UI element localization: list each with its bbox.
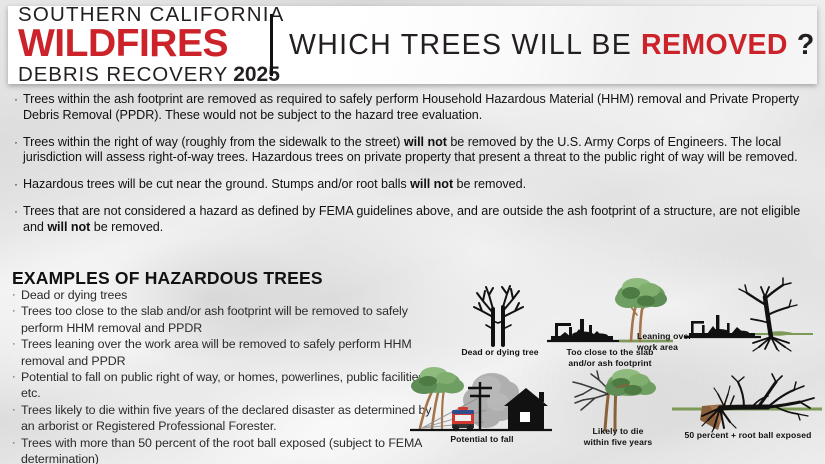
list-item: · Hazardous trees will be cut near the g… [14,177,810,193]
caption-root-ball-exposed: 50 percent + root ball exposed [670,430,825,441]
list-item: · Trees leaning over the work area will … [12,336,432,369]
infographic-poster: SOUTHERN CALIFORNIA WILDFIRES DEBRIS REC… [0,0,825,464]
list-item: · Trees too close to the slab and/or ash… [12,303,432,336]
caption-line-2: and/or ash footprint [543,358,677,369]
caption-likely-to-die: Likely to die within five years [556,426,680,447]
bullet-dot-icon: · [12,402,21,435]
caption-potential-to-fall: Potential to fall [418,434,546,445]
logo-line-debris-recovery: DEBRIS RECOVERY 2025 [18,64,266,86]
page-title-question-mark: ? [797,29,816,62]
example-text: Potential to fall on public right of way… [21,369,432,402]
example-text: Trees with more than 50 percent of the r… [21,435,432,464]
dead-branches [573,371,609,410]
caption-line-1: Leaning over [637,331,747,342]
caption-line-1: Potential to fall [418,434,546,445]
list-item: · Trees likely to die within five years … [12,402,432,435]
bullet-text: Trees within the ash footprint are remov… [23,92,810,124]
illustration-leaning-over-work-area: Leaning over work area [685,281,815,351]
potential-to-fall-icon [408,366,554,438]
bullet-dot-icon: · [14,135,23,167]
header-banner: SOUTHERN CALIFORNIA WILDFIRES DEBRIS REC… [8,6,817,84]
bullet-text: Trees that are not considered a hazard a… [23,204,810,236]
illustration-likely-to-die: Likely to die within five years [563,368,673,430]
page-title-prefix: WHICH TREES WILL BE [289,29,632,62]
bullet-text-post: be removed. [453,177,526,191]
wildfire-logo: SOUTHERN CALIFORNIA WILDFIRES DEBRIS REC… [8,5,266,86]
bullet-text-bold: will not [404,135,447,149]
list-item: · Trees within the right of way (roughly… [14,135,810,167]
caption-line-1: 50 percent + root ball exposed [670,430,825,441]
canopy-group [411,367,464,394]
bullet-dot-icon: · [12,369,21,402]
examples-list: · Dead or dying trees · Trees too close … [12,287,432,464]
caption-line-2: within five years [556,437,680,448]
illustration-root-ball-exposed: 50 percent + root ball exposed [672,376,824,432]
bullet-text-post: be removed. [90,220,163,234]
canopy [605,369,656,396]
header-divider [270,14,273,76]
page-title-emphasis: REMOVED [641,29,788,62]
example-text: Trees leaning over the work area will be… [21,336,432,369]
list-item: · Trees within the ash footprint are rem… [14,92,810,124]
examples-heading: EXAMPLES OF HAZARDOUS TREES [12,268,323,289]
logo-line-wildfires: WILDFIRES [18,26,266,62]
house-window [520,412,530,422]
bullet-dot-icon: · [12,336,21,369]
page-title: WHICH TREES WILL BE REMOVED? [289,29,816,62]
dead-tree-icon [455,283,545,345]
bullet-text-pre: Hazardous trees will be cut near the gro… [23,177,410,191]
list-item: · Dead or dying trees [12,287,432,303]
caption-line-2: work area [637,342,747,353]
bullet-dot-icon: · [12,287,21,303]
example-text: Trees likely to die within five years of… [21,402,432,435]
logo-debris-recovery-text: DEBRIS RECOVERY [18,65,228,86]
list-item: · Potential to fall on public right of w… [12,369,432,402]
bullet-dot-icon: · [14,204,23,236]
bullet-text-pre: Trees within the ash footprint are remov… [23,92,799,122]
bullet-text: Trees within the right of way (roughly f… [23,135,810,167]
example-text: Dead or dying trees [21,287,127,303]
policy-bullet-list: · Trees within the ash footprint are rem… [14,92,810,247]
caption-leaning-over-work-area: Leaning over work area [637,331,747,352]
canopy [615,278,667,308]
bullet-text-pre: Trees within the right of way (roughly f… [23,135,404,149]
caption-dead-or-dying-tree: Dead or dying tree [447,347,553,358]
bullet-dot-icon: · [12,435,21,464]
root-ball-exposed-icon [672,376,824,432]
half-dead-tree-icon [563,368,673,430]
illustration-dead-or-dying-tree: Dead or dying tree [455,283,545,345]
caption-line-1: Likely to die [556,426,680,437]
bullet-text-bold: will not [47,220,90,234]
example-text: Trees too close to the slab and/or ash f… [21,303,432,336]
bullet-text-bold: will not [410,177,453,191]
fire-truck-icon [452,407,474,431]
bullet-text: Hazardous trees will be cut near the gro… [23,177,526,193]
list-item: · Trees that are not considered a hazard… [14,204,810,236]
caption-line-1: Dead or dying tree [447,347,553,358]
bullet-dot-icon: · [12,303,21,336]
list-item: · Trees with more than 50 percent of the… [12,435,432,464]
illustration-potential-to-fall: Potential to fall [408,366,554,438]
bullet-dot-icon: · [14,177,23,193]
bullet-dot-icon: · [14,92,23,124]
